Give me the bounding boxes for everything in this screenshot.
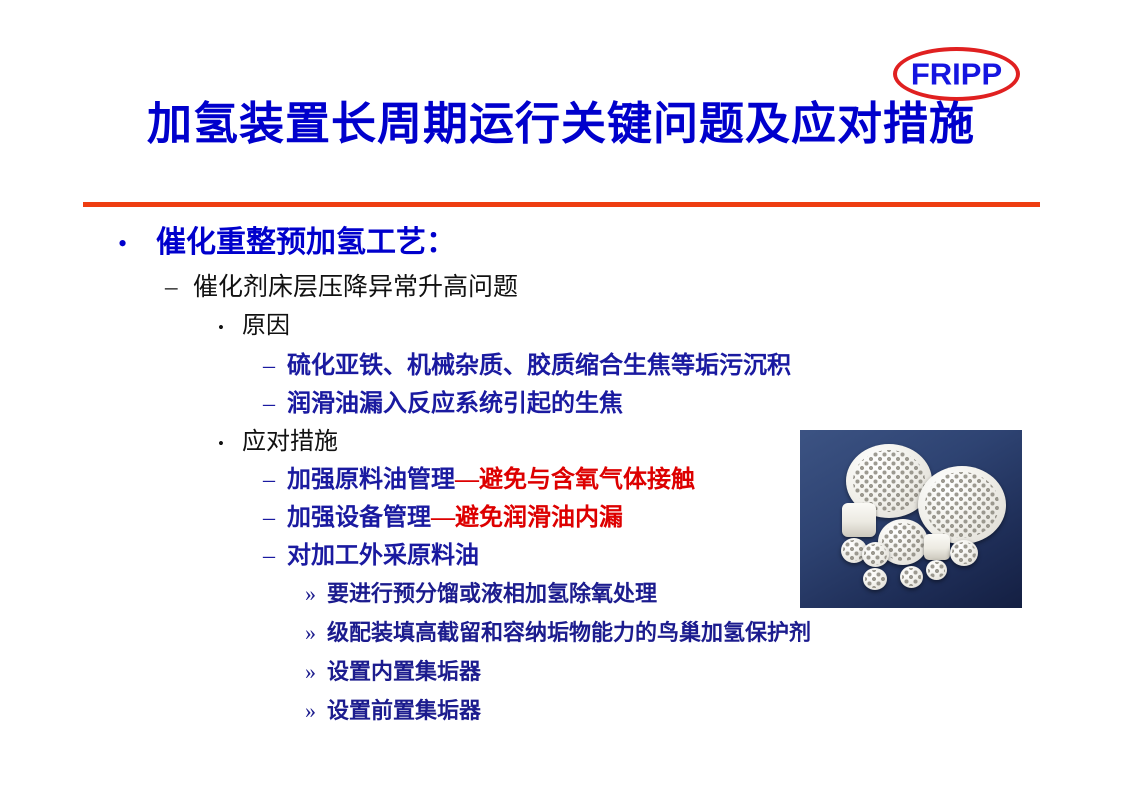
logo-text: FRIPP	[893, 59, 1020, 90]
bullet-level4-8: –对加工外采原料油	[263, 544, 479, 568]
disc-large-2	[918, 466, 1006, 544]
bullet-text: 催化剂床层压降异常升高问题	[193, 274, 518, 301]
bullet-text: 润滑油漏入反应系统引起的生焦	[287, 391, 623, 417]
bullet-level4-7: –加强设备管理—避免润滑油内漏	[263, 506, 623, 530]
bullet-text: 要进行预分馏或液相加氢除氧处理	[327, 581, 657, 606]
bullet-text: 催化重整预加氢工艺：	[156, 226, 456, 259]
disc-small-2	[862, 542, 889, 567]
bullet-marker: »	[305, 661, 327, 683]
bullet-marker: »	[305, 583, 327, 605]
disc-small-3	[950, 540, 978, 566]
honeycomb-holes	[865, 570, 885, 588]
bullet-text: 对加工外采原料油	[287, 543, 479, 569]
bullet-level3-2: •原因	[218, 314, 290, 338]
disc-small-5	[900, 566, 923, 588]
bullet-marker: –	[263, 354, 287, 378]
disc-small-6	[926, 560, 947, 580]
bullet-text: 原因	[242, 313, 290, 339]
honeycomb-holes	[902, 568, 921, 586]
bullet-level5-9: »要进行预分馏或液相加氢除氧处理	[305, 583, 657, 605]
bullet-marker: –	[263, 506, 287, 530]
bullet-text: 设置内置集垢器	[327, 659, 481, 684]
bullet-marker: –	[263, 392, 287, 416]
bullet-text: 应对措施	[242, 429, 338, 455]
bullet-text: 硫化亚铁、机械杂质、胶质缩合生焦等垢污沉积	[287, 353, 791, 379]
disc-small-4	[863, 568, 887, 590]
bullet-level4-4: –润滑油漏入反应系统引起的生焦	[263, 392, 623, 416]
slide-title: 加氢装置长周期运行关键问题及应对措施	[0, 98, 1122, 151]
bullet-level5-12: »设置前置集垢器	[305, 700, 481, 722]
bullet-marker: »	[305, 622, 327, 644]
bullet-text: 级配装填高截留和容纳垢物能力的鸟巢加氢保护剂	[327, 620, 811, 645]
bullet-text: 加强原料油管理	[287, 467, 455, 493]
honeycomb-holes	[864, 544, 887, 565]
bullet-marker: •	[218, 435, 242, 452]
cylinder-1	[842, 503, 876, 537]
bullet-level2-1: –催化剂床层压降异常升高问题	[165, 275, 518, 300]
slide-canvas: FRIPP 加氢装置长周期运行关键问题及应对措施 •催化重整预加氢工艺： –催化…	[0, 0, 1122, 793]
bullet-marker: –	[263, 544, 287, 568]
bullet-level4-6: –加强原料油管理—避免与含氧气体接触	[263, 468, 695, 492]
bullet-marker: •	[218, 319, 242, 336]
title-divider	[83, 202, 1040, 207]
fripp-logo: FRIPP	[893, 47, 1020, 101]
bullet-level5-11: »设置内置集垢器	[305, 661, 481, 683]
bullet-marker: •	[118, 231, 156, 257]
bullet-marker: –	[263, 468, 287, 492]
bullet-marker: »	[305, 700, 327, 722]
bullet-highlight: —避免与含氧气体接触	[455, 467, 695, 493]
bullet-highlight: —避免润滑油内漏	[431, 505, 623, 531]
bullet-text: 加强设备管理	[287, 505, 431, 531]
honeycomb-holes	[952, 542, 976, 564]
bullet-level1-0: •催化重整预加氢工艺：	[118, 228, 456, 258]
catalyst-photo	[800, 430, 1022, 608]
bullet-marker: –	[165, 275, 193, 300]
cylinder-2	[924, 534, 950, 560]
honeycomb-holes	[925, 472, 999, 538]
honeycomb-holes	[928, 562, 946, 579]
bullet-level4-3: –硫化亚铁、机械杂质、胶质缩合生焦等垢污沉积	[263, 354, 791, 378]
bullet-level5-10: »级配装填高截留和容纳垢物能力的鸟巢加氢保护剂	[305, 622, 811, 644]
bullet-text: 设置前置集垢器	[327, 698, 481, 723]
bullet-level3-5: •应对措施	[218, 430, 338, 454]
